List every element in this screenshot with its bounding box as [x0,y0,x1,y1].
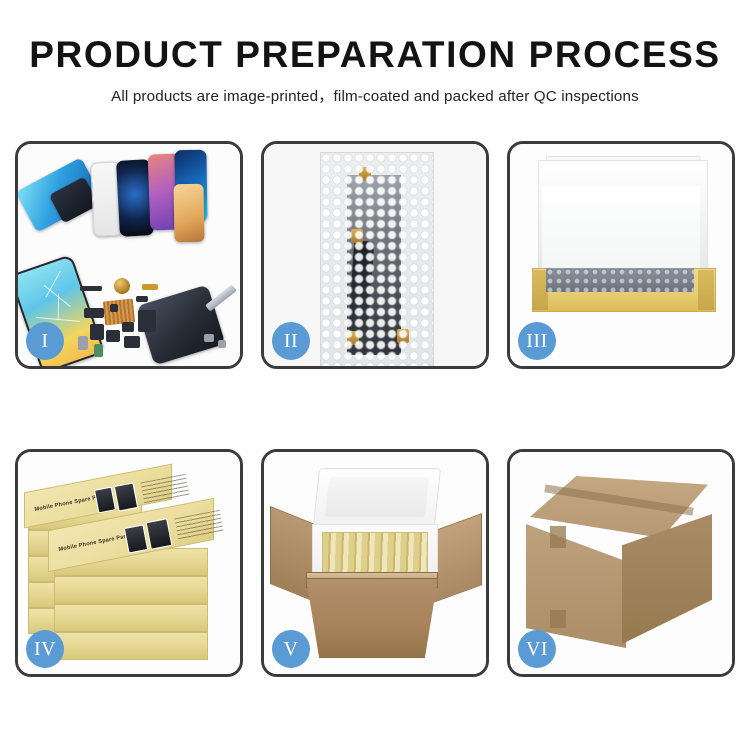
speaker-coil-graphic [114,278,130,294]
spare-part-graphic [122,322,134,332]
bubble-wrapped-contents-graphic [546,268,694,292]
bubble-wrap-bag-graphic [320,152,434,366]
page-subtitle: All products are image-printed，film-coat… [0,84,750,106]
carton-tape-patch-graphic [550,526,566,548]
spare-part-graphic [84,308,104,318]
spare-part-graphic [110,304,118,312]
spare-part-graphic [204,334,214,342]
phone-display-gold-graphic [173,184,204,243]
foam-sheet-graphic [542,186,700,272]
process-step-4: Mobile Phone Spare Parts Mobile Phone Sp… [15,449,243,677]
step-badge-2: II [272,322,310,360]
process-step-grid: I II [15,141,735,677]
step-2-image: II [264,144,486,366]
spare-part-graphic [142,284,158,290]
header: PRODUCT PREPARATION PROCESS All products… [0,0,750,106]
box-flap-right-graphic [698,270,714,310]
product-preparation-infographic: PRODUCT PREPARATION PROCESS All products… [0,0,750,750]
step-4-image: Mobile Phone Spare Parts Mobile Phone Sp… [18,452,240,674]
retail-box-graphic [54,632,208,660]
step-6-image: VI [510,452,732,674]
spare-part-graphic [124,336,140,348]
carton-tape-patch-graphic [550,610,566,628]
step-5-image: V [264,452,486,674]
foam-cooler-lid-graphic [313,468,441,526]
step-3-image: III [510,144,732,366]
step-badge-5: V [272,630,310,668]
process-step-3: III [507,141,735,369]
retail-box-graphic [54,604,208,632]
process-step-6: VI [507,449,735,677]
step-1-image: I [18,144,240,366]
retail-box-graphic [54,576,208,604]
step-badge-6: VI [518,630,556,668]
flex-cable-graphic [138,310,156,332]
spare-part-graphic [106,330,120,342]
spare-part-graphic [80,286,102,291]
spare-part-graphic [136,296,148,302]
carton-body-graphic [306,578,438,658]
step-badge-4: IV [26,630,64,668]
spare-part-graphic [218,340,226,348]
spare-part-graphic [94,344,103,357]
spare-part-graphic [90,324,104,340]
spare-part-graphic [78,336,88,350]
page-title: PRODUCT PREPARATION PROCESS [0,36,750,75]
step-badge-3: III [518,322,556,360]
step-badge-1: I [26,322,64,360]
process-step-2: II [261,141,489,369]
process-step-1: I [15,141,243,369]
bubble-texture [321,153,433,366]
process-step-5: V [261,449,489,677]
